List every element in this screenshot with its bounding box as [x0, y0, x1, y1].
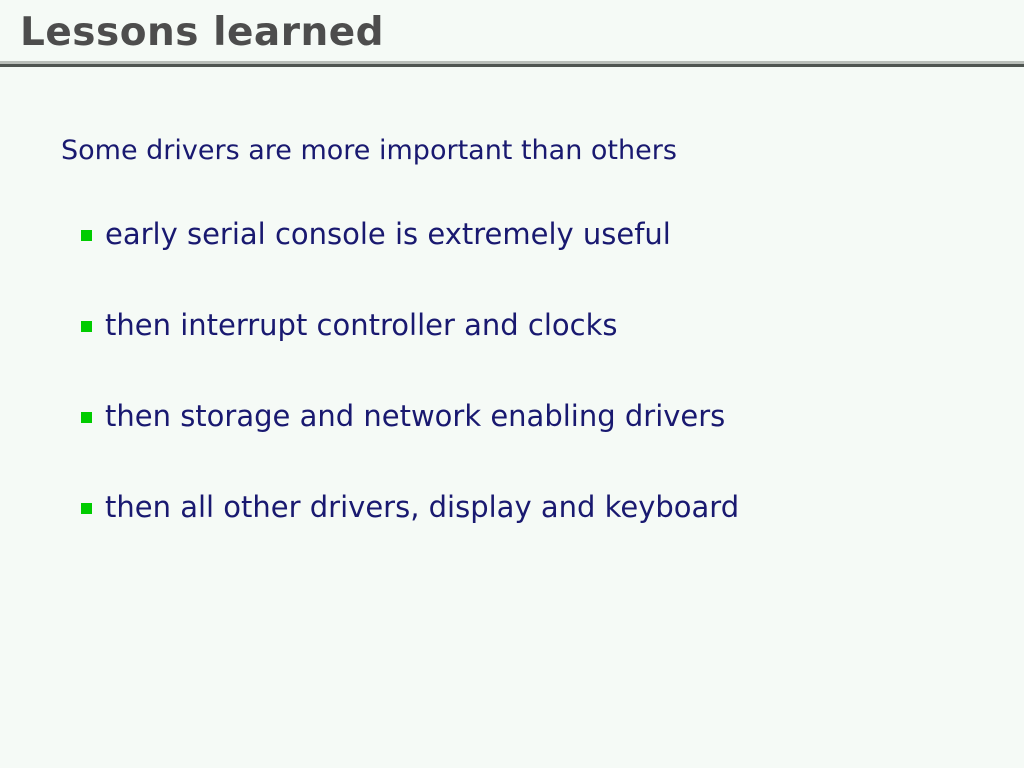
- list-item: then interrupt controller and clocks: [81, 309, 981, 400]
- list-item: early serial console is extremely useful: [81, 218, 981, 309]
- list-item-label: then all other drivers, display and keyb…: [105, 491, 739, 524]
- lead-statement: Some drivers are more important than oth…: [61, 135, 677, 167]
- green-square-bullet-icon: [81, 321, 92, 332]
- bullet-list: early serial console is extremely useful…: [81, 218, 981, 582]
- list-item: then all other drivers, display and keyb…: [81, 491, 981, 582]
- green-square-bullet-icon: [81, 230, 92, 241]
- list-item-label: early serial console is extremely useful: [105, 218, 671, 251]
- green-square-bullet-icon: [81, 412, 92, 423]
- slide-body: Some drivers are more important than oth…: [0, 0, 1024, 768]
- list-item-label: then storage and network enabling driver…: [105, 400, 725, 433]
- list-item: then storage and network enabling driver…: [81, 400, 981, 491]
- green-square-bullet-icon: [81, 503, 92, 514]
- list-item-label: then interrupt controller and clocks: [105, 309, 617, 342]
- presentation-slide: Lessons learned Some drivers are more im…: [0, 0, 1024, 768]
